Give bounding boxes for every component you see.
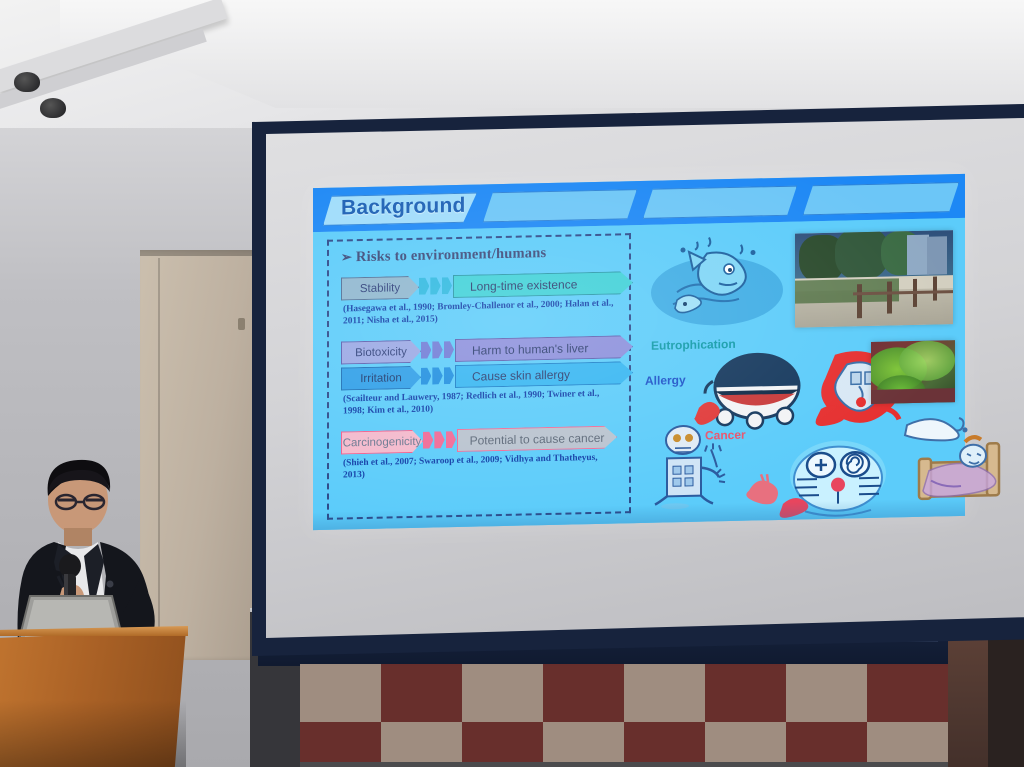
risk-cause-label: Carcinogenicity	[341, 430, 423, 455]
chevron-group-icon	[423, 431, 457, 449]
door-header-trim	[140, 250, 268, 256]
fish-in-polluted-water-drawing	[643, 234, 791, 333]
risk-cause-label: Irritation	[341, 366, 421, 391]
moss-photo	[871, 340, 955, 404]
right-wall-column-dark	[988, 620, 1024, 767]
risks-heading: ➢ Risks to environment/humans	[341, 245, 546, 266]
spotlight-icon	[40, 98, 66, 118]
bullet-arrow-icon: ➢	[341, 249, 352, 264]
risk-row-irritation: Irritation Cause skin allergy	[341, 362, 615, 389]
risk-row-stability: Stability Long-time existence	[341, 272, 615, 299]
tab-4[interactable]	[803, 182, 959, 215]
spotlight-icon	[14, 72, 40, 92]
citation-2: (Scailteur and Lauwery, 1987; Redlich et…	[343, 387, 619, 418]
screenshot-root: Background ➢ Risks to environment/humans…	[0, 0, 1024, 767]
podium-left-shadow	[0, 700, 186, 767]
park-photo	[795, 230, 953, 327]
risk-effect-label: Harm to human's liver	[455, 335, 633, 362]
citation-1: (Hasegawa et al., 1990; Bromley-Challeno…	[343, 297, 619, 328]
chevron-group-icon	[421, 367, 455, 385]
door-knob	[238, 318, 245, 330]
skeleton-with-box-drawing	[649, 423, 745, 511]
slide-title: Background	[341, 194, 466, 221]
risks-heading-text: Risks to environment/humans	[356, 245, 546, 265]
risk-row-carcinogenicity: Carcinogenicity Potential to cause cance…	[341, 426, 615, 453]
risks-dashed-box: ➢ Risks to environment/humans Stability …	[327, 233, 631, 520]
tab-2[interactable]	[483, 189, 637, 222]
presentation-slide: Background ➢ Risks to environment/humans…	[313, 174, 965, 530]
person-in-bed-drawing	[901, 413, 1007, 507]
checkerboard-wall-panel	[300, 664, 948, 767]
label-allergy: Allergy	[645, 373, 686, 388]
risk-cause-label: Stability	[341, 276, 419, 301]
floor-strip	[300, 762, 948, 767]
sneezing-face-drawing	[693, 349, 811, 434]
risk-row-biotoxicity: Biotoxicity Harm to human's liver	[341, 336, 615, 363]
risk-effect-label: Long-time existence	[453, 271, 633, 298]
risk-cause-label: Biotoxicity	[341, 340, 421, 365]
risk-effect-label: Potential to cause cancer	[457, 425, 617, 451]
slide-body: ➢ Risks to environment/humans Stability …	[313, 218, 965, 530]
chevron-group-icon	[421, 341, 455, 359]
tab-3[interactable]	[643, 186, 797, 219]
chevron-group-icon	[419, 277, 453, 295]
citation-3: (Shieh et al., 2007; Swaroop et al., 200…	[343, 451, 619, 482]
risk-effect-label: Cause skin allergy	[455, 361, 633, 388]
